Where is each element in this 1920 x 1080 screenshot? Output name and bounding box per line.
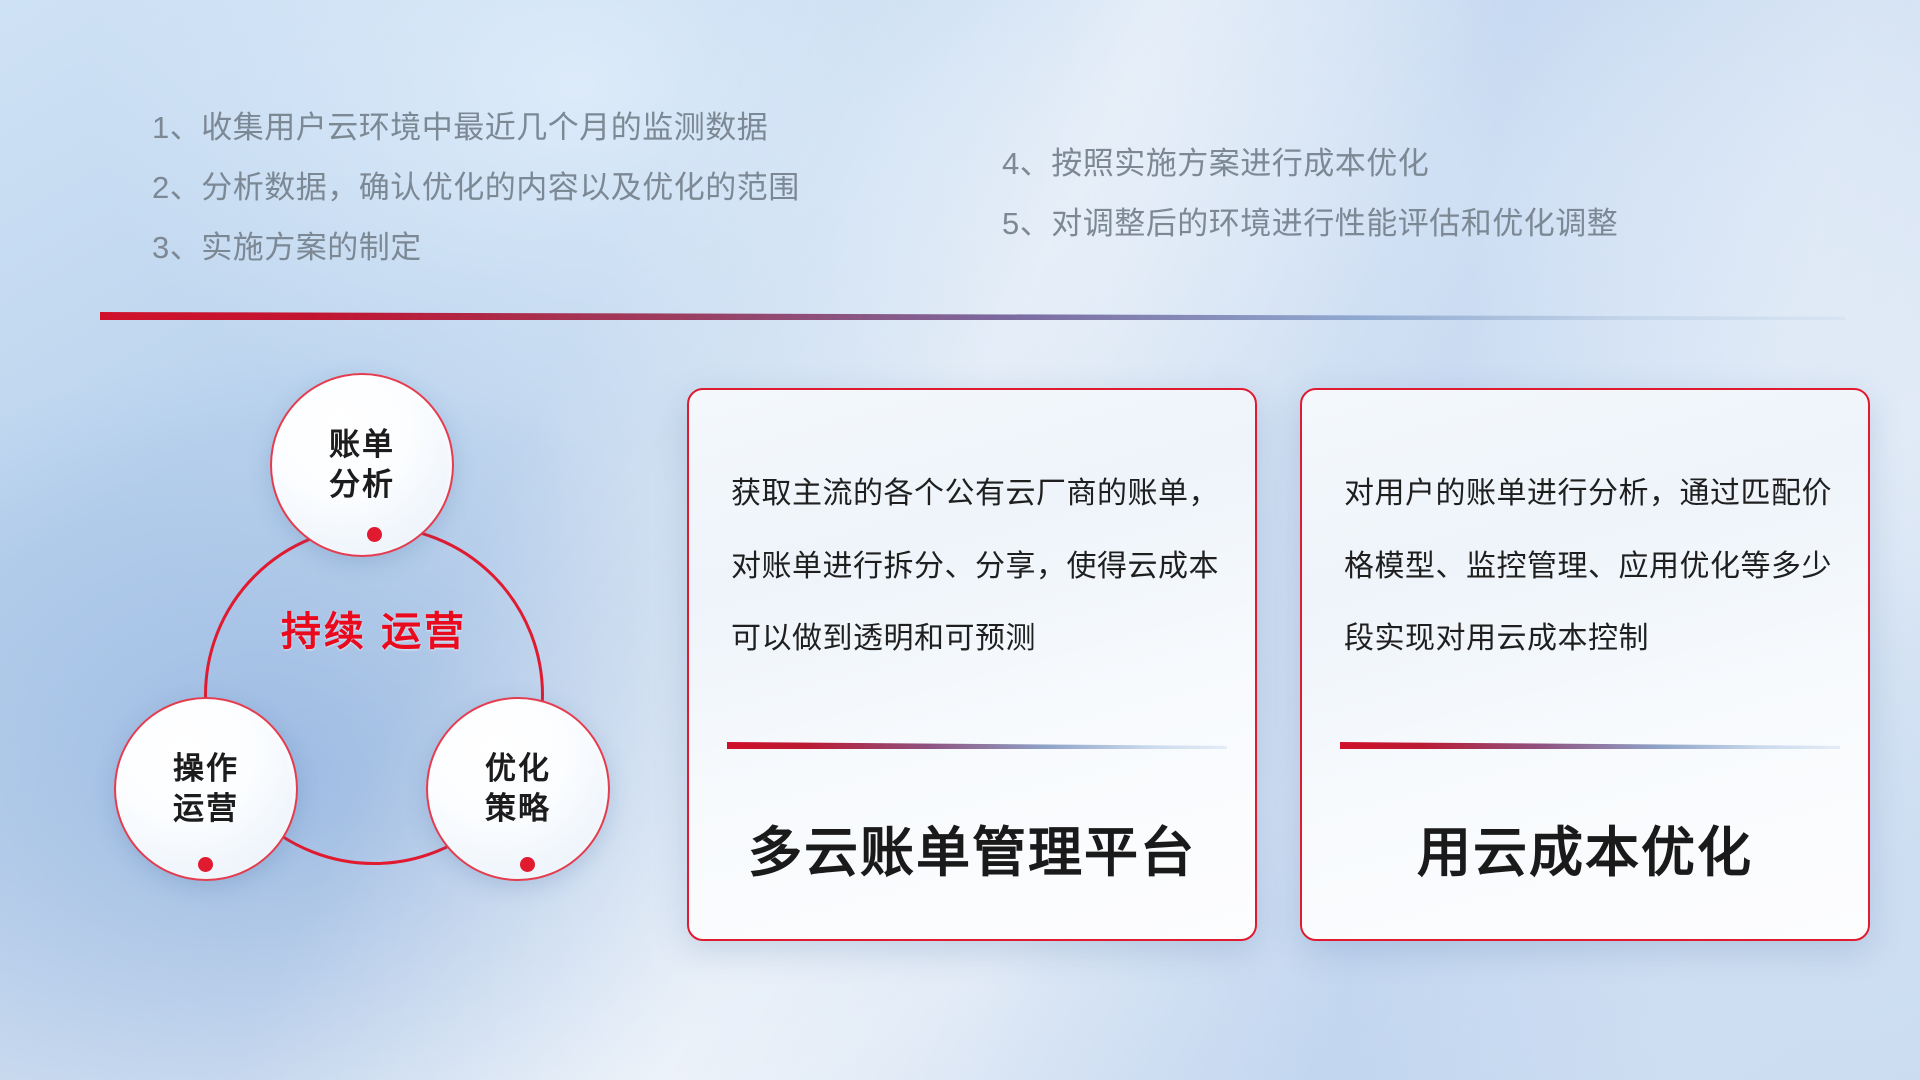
card-2-rule <box>1340 742 1840 749</box>
steps-right-column: 4、按照实施方案进行成本优化 5、对调整后的环境进行性能评估和优化调整 <box>1002 148 1618 268</box>
card-1-rule <box>727 742 1227 749</box>
slide-canvas: 1、收集用户云环境中最近几个月的监测数据 2、分析数据，确认优化的内容以及优化的… <box>0 0 1920 1080</box>
step-item-5: 5、对调整后的环境进行性能评估和优化调整 <box>1002 208 1618 239</box>
bubble-bill-analysis[interactable]: 账单 分析 <box>270 373 454 557</box>
step-item-2: 2、分析数据，确认优化的内容以及优化的范围 <box>152 172 800 203</box>
connector-dot-bottom-right <box>520 857 535 872</box>
bubble-bill-analysis-line-1: 账单 <box>329 425 395 465</box>
step-item-1: 1、收集用户云环境中最近几个月的监测数据 <box>152 112 800 143</box>
card-multi-cloud-bill-platform[interactable]: 获取主流的各个公有云厂商的账单，对账单进行拆分、分享，使得云成本可以做到透明和可… <box>687 388 1257 941</box>
connector-dot-top <box>367 527 382 542</box>
card-cloud-cost-optimization[interactable]: 对用户的账单进行分析，通过匹配价格模型、监控管理、应用优化等多少段实现对用云成本… <box>1300 388 1870 941</box>
connector-dot-bottom-left <box>198 857 213 872</box>
bubble-operations[interactable]: 操作 运营 <box>114 697 298 881</box>
diagram-center-label: 持续 运营 <box>204 608 544 658</box>
bubble-operations-line-1: 操作 <box>173 749 239 789</box>
center-label-line-1: 持续 <box>281 610 367 654</box>
bubble-optimization-strategy[interactable]: 优化 策略 <box>426 697 610 881</box>
step-item-4: 4、按照实施方案进行成本优化 <box>1002 148 1618 179</box>
steps-list: 1、收集用户云环境中最近几个月的监测数据 2、分析数据，确认优化的内容以及优化的… <box>152 112 1772 292</box>
center-label-line-2: 运营 <box>381 610 467 654</box>
bubble-optimization-strategy-line-2: 策略 <box>485 789 551 829</box>
section-divider <box>100 312 1845 320</box>
bubble-bill-analysis-line-2: 分析 <box>329 465 395 505</box>
bubble-operations-line-2: 运营 <box>173 789 239 829</box>
steps-left-column: 1、收集用户云环境中最近几个月的监测数据 2、分析数据，确认优化的内容以及优化的… <box>152 112 800 292</box>
card-2-body-text: 对用户的账单进行分析，通过匹配价格模型、监控管理、应用优化等多少段实现对用云成本… <box>1344 458 1832 676</box>
bubble-optimization-strategy-line-1: 优化 <box>485 749 551 789</box>
card-1-title: 多云账单管理平台 <box>689 808 1255 887</box>
card-2-title: 用云成本优化 <box>1302 808 1868 887</box>
card-1-body-text: 获取主流的各个公有云厂商的账单，对账单进行拆分、分享，使得云成本可以做到透明和可… <box>731 458 1219 676</box>
step-item-3: 3、实施方案的制定 <box>152 232 800 263</box>
continuous-operation-diagram: 持续 运营 账单 分析 操作 运营 优化 策略 <box>96 355 656 955</box>
